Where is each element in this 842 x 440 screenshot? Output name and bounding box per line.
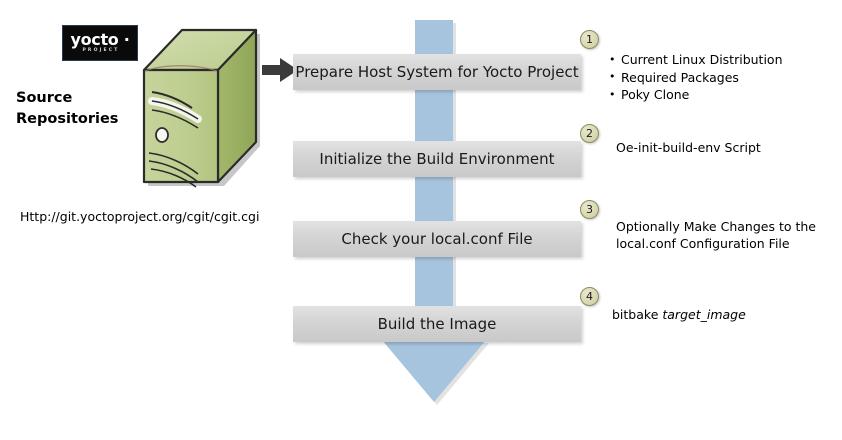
annotation-line: Oe-init-build-env Script [616,139,761,156]
process-box-initialize-build-env[interactable]: Initialize the Build Environment [293,141,581,177]
bitbake-argument: target_image [662,307,745,322]
diagram-canvas: yocto · PROJECT Source Repositories [0,0,842,440]
process-box-prepare-host[interactable]: Prepare Host System for Yocto Project [293,54,581,90]
server-tower-icon [118,22,268,197]
annotation-step-3: Optionally Make Changes to the local.con… [616,218,816,252]
annotation-line: bitbake target_image [612,306,746,323]
source-repository-url[interactable]: Http://git.yoctoproject.org/cgit/cgit.cg… [20,209,259,224]
annotation-step-4: bitbake target_image [612,306,746,323]
annotation-step-1: Current Linux Distribution Required Pack… [608,51,783,104]
list-item: Poky Clone [608,86,783,104]
list-item: Required Packages [608,69,783,87]
callout-number-3: 3 [580,200,599,219]
annotation-line: local.conf Configuration File [616,235,816,252]
process-box-check-localconf[interactable]: Check your local.conf File [293,221,581,257]
callout-number-1: 1 [580,30,599,49]
process-box-label: Check your local.conf File [341,230,532,248]
process-box-build-image[interactable]: Build the Image [293,306,581,342]
annotation-step-2: Oe-init-build-env Script [616,139,761,156]
process-box-label: Build the Image [378,315,497,333]
bitbake-command: bitbake [612,307,658,322]
process-box-label: Initialize the Build Environment [319,150,554,168]
annotation-line: Optionally Make Changes to the [616,218,816,235]
list-item: Current Linux Distribution [608,51,783,69]
logo-subtitle: PROJECT [82,49,119,54]
process-box-label: Prepare Host System for Yocto Project [295,63,578,81]
annotation-bullet-list: Current Linux Distribution Required Pack… [608,51,783,104]
callout-number-2: 2 [580,124,599,143]
source-repositories-label: Source Repositories [16,88,118,130]
callout-number-4: 4 [580,287,599,306]
